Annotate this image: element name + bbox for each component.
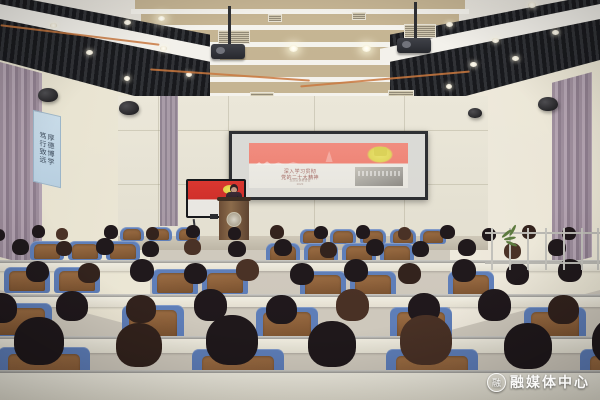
audience-head <box>228 241 246 257</box>
downlight-9 <box>158 16 165 21</box>
downlight-13 <box>470 62 477 67</box>
air-vent-1 <box>218 30 250 44</box>
curtain-center-left <box>160 96 178 226</box>
projected-slide: 深入学习贯彻 党的二十大精神 主题宣讲报告会 2023 <box>249 143 407 188</box>
audience-head <box>56 228 68 240</box>
downlight-16 <box>552 30 559 35</box>
audience-head <box>184 263 207 284</box>
audience-head <box>32 225 45 238</box>
audience-head <box>458 239 476 256</box>
calligraphy-scroll: 厚德博学 笃行致远 <box>33 110 61 188</box>
air-vent-2 <box>404 24 436 38</box>
lecture-hall-photograph: 厚德博学 笃行致远 深入学习贯彻 党的二十大精神 主题宣讲报告会 2023 <box>0 0 600 400</box>
audience-head <box>308 321 356 367</box>
slide-subtitle: 主题宣讲报告会 2023 <box>264 178 337 186</box>
projection-surface: 深入学习贯彻 党的二十大精神 主题宣讲报告会 2023 <box>232 134 425 197</box>
ceiling-projector-left <box>211 44 245 59</box>
railing-post <box>581 228 583 270</box>
audience-head <box>440 225 455 239</box>
audience-head <box>0 229 5 241</box>
seat <box>120 227 144 241</box>
plant-leaf <box>505 240 517 247</box>
audience-head <box>344 259 368 282</box>
air-vent-5 <box>268 14 282 22</box>
seat-back-panel <box>72 244 99 259</box>
railing-post <box>597 228 599 270</box>
audience-head <box>356 225 370 239</box>
ceiling-projector-right <box>397 38 431 53</box>
audience-head <box>336 289 369 321</box>
desk-rail <box>0 294 600 297</box>
downlight-14 <box>512 56 519 61</box>
wall-seam-1 <box>158 96 159 246</box>
audience-head <box>56 291 88 321</box>
downlight-2 <box>124 20 131 25</box>
audience-head <box>184 239 201 255</box>
audience-head <box>398 227 411 240</box>
lectern-top <box>217 197 251 201</box>
projection-screen: 深入学习贯彻 党的二十大精神 主题宣讲报告会 2023 <box>229 131 428 200</box>
audience-head <box>116 323 162 367</box>
audience-head <box>548 295 579 324</box>
audience-head <box>452 259 476 282</box>
audience-head <box>290 263 314 285</box>
slide-photo-strip <box>355 167 402 186</box>
wall-speaker-left <box>38 88 58 102</box>
wall-speaker-left-2 <box>119 101 139 115</box>
party-emblem-icon <box>374 147 387 156</box>
audience-head <box>146 227 159 240</box>
slide-tower-graphic <box>322 151 336 162</box>
projector-pole-left <box>228 6 231 44</box>
audience-head <box>12 239 29 255</box>
railing-post <box>491 228 493 270</box>
slide-skyline-graphic <box>256 159 313 164</box>
downlight-4 <box>160 46 167 51</box>
audience-head <box>314 226 328 239</box>
audience-head <box>398 263 421 284</box>
audience-head <box>126 295 156 323</box>
potted-plant <box>496 224 532 250</box>
media-center-seal-icon: 融 <box>487 373 506 392</box>
projector-pole-right <box>414 2 417 38</box>
audience-head <box>56 241 72 256</box>
seat-back-panel <box>384 246 411 261</box>
audience-head <box>504 323 552 369</box>
downlight-12 <box>528 2 536 8</box>
railing-post <box>563 228 565 270</box>
plant-leaf <box>509 224 517 236</box>
downlight-5 <box>124 76 130 81</box>
audience-head <box>400 315 452 365</box>
audience-head <box>274 239 292 256</box>
watermark: 融 融媒体中心 <box>487 372 590 392</box>
seat-back-panel <box>123 229 142 240</box>
downlight-7 <box>289 45 298 52</box>
audience-head <box>236 259 259 281</box>
downlight-11 <box>492 38 499 43</box>
audience-head <box>104 225 118 239</box>
seat-back-panel <box>333 231 353 243</box>
railing-post <box>545 228 547 270</box>
audience-head <box>478 289 511 321</box>
downlight-3 <box>86 50 93 55</box>
downlight-8 <box>362 45 371 52</box>
wall-speaker-right-2 <box>468 108 482 118</box>
audience-head <box>320 242 337 258</box>
audience-head <box>412 241 429 257</box>
downlight-10 <box>446 22 453 27</box>
audience-head <box>206 315 258 365</box>
audience-head <box>186 225 200 238</box>
audience-head <box>78 263 100 283</box>
audience-head <box>266 295 297 324</box>
calligraphy-text: 厚德博学 笃行致远 <box>39 131 55 167</box>
downlight-15 <box>446 84 452 89</box>
audience-head <box>96 238 114 255</box>
air-vent-6 <box>352 12 366 20</box>
audience-head <box>26 261 49 282</box>
audience-head <box>14 317 64 365</box>
seat <box>330 229 356 244</box>
watermark-text: 融媒体中心 <box>510 372 590 392</box>
wall-speaker-right <box>538 97 558 111</box>
downlight-1 <box>50 23 57 28</box>
audience-head <box>130 259 154 282</box>
audience-head <box>270 225 284 239</box>
audience-head <box>366 239 384 256</box>
audience-head <box>228 227 241 240</box>
audience-head <box>142 241 159 257</box>
